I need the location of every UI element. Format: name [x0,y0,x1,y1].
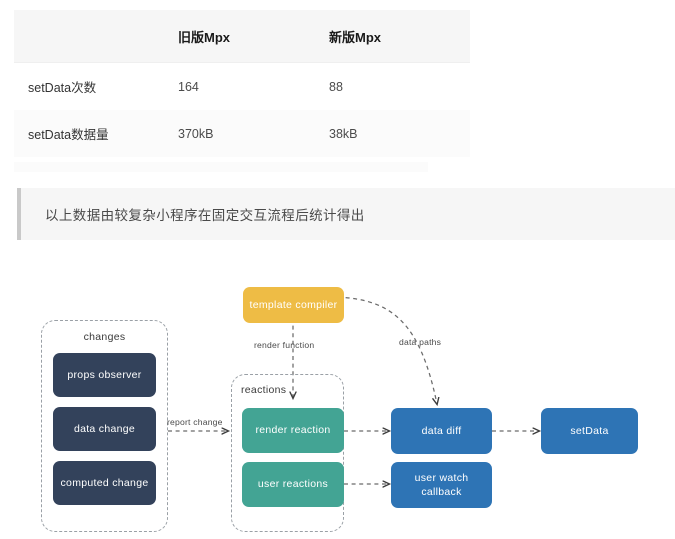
table-head: 旧版Mpx 新版Mpx [14,10,470,63]
comparison-table: 旧版Mpx 新版Mpx setData次数 164 88 setData数据量 … [14,10,428,157]
node-set-data[interactable]: setData [541,408,638,454]
edge-template-to-datadiff [338,297,437,404]
table-cell-new: 38kB [315,110,470,157]
node-user-watch-callback-line1: user watch [415,471,469,485]
table-cell-label: setData次数 [14,63,164,111]
callout-text: 以上数据由较复杂小程序在固定交互流程后统计得出 [21,204,365,224]
callout-note: 以上数据由较复杂小程序在固定交互流程后统计得出 [17,188,675,240]
table-bottom-spacer [14,162,428,172]
table-cell-old: 164 [164,63,315,111]
edge-label-data-paths: data paths [399,337,441,347]
node-data-diff[interactable]: data diff [391,408,492,454]
node-render-reaction[interactable]: render reaction [242,408,344,453]
table-row: setData次数 164 88 [14,63,470,111]
table-cell-label: setData数据量 [14,110,164,157]
edge-label-render-function: render function [254,340,314,350]
table-header-cell-0 [14,10,164,63]
group-reactions [231,374,344,532]
table-row: setData数据量 370kB 38kB [14,110,470,157]
table-header-cell-1: 旧版Mpx [164,10,315,63]
node-template-compiler[interactable]: template compiler [243,287,344,323]
table-cell-new: 88 [315,63,470,111]
table-body: setData次数 164 88 setData数据量 370kB 38kB [14,63,470,158]
node-user-watch-callback[interactable]: user watch callback [391,462,492,508]
group-reactions-label: reactions [231,384,319,396]
flow-diagram: changes reactions props observer data ch… [0,256,675,539]
diagram-canvas: changes reactions props observer data ch… [0,256,675,539]
group-changes-label: changes [41,331,168,343]
node-computed-change[interactable]: computed change [53,461,156,505]
table-header-cell-2: 新版Mpx [315,10,470,63]
edge-label-report-change: report change [167,417,223,427]
node-user-reactions[interactable]: user reactions [242,462,344,507]
table-header-row: 旧版Mpx 新版Mpx [14,10,470,63]
table-cell-old: 370kB [164,110,315,157]
table: 旧版Mpx 新版Mpx setData次数 164 88 setData数据量 … [14,10,470,157]
node-user-watch-callback-line2: callback [421,485,461,499]
node-data-change[interactable]: data change [53,407,156,451]
node-props-observer[interactable]: props observer [53,353,156,397]
